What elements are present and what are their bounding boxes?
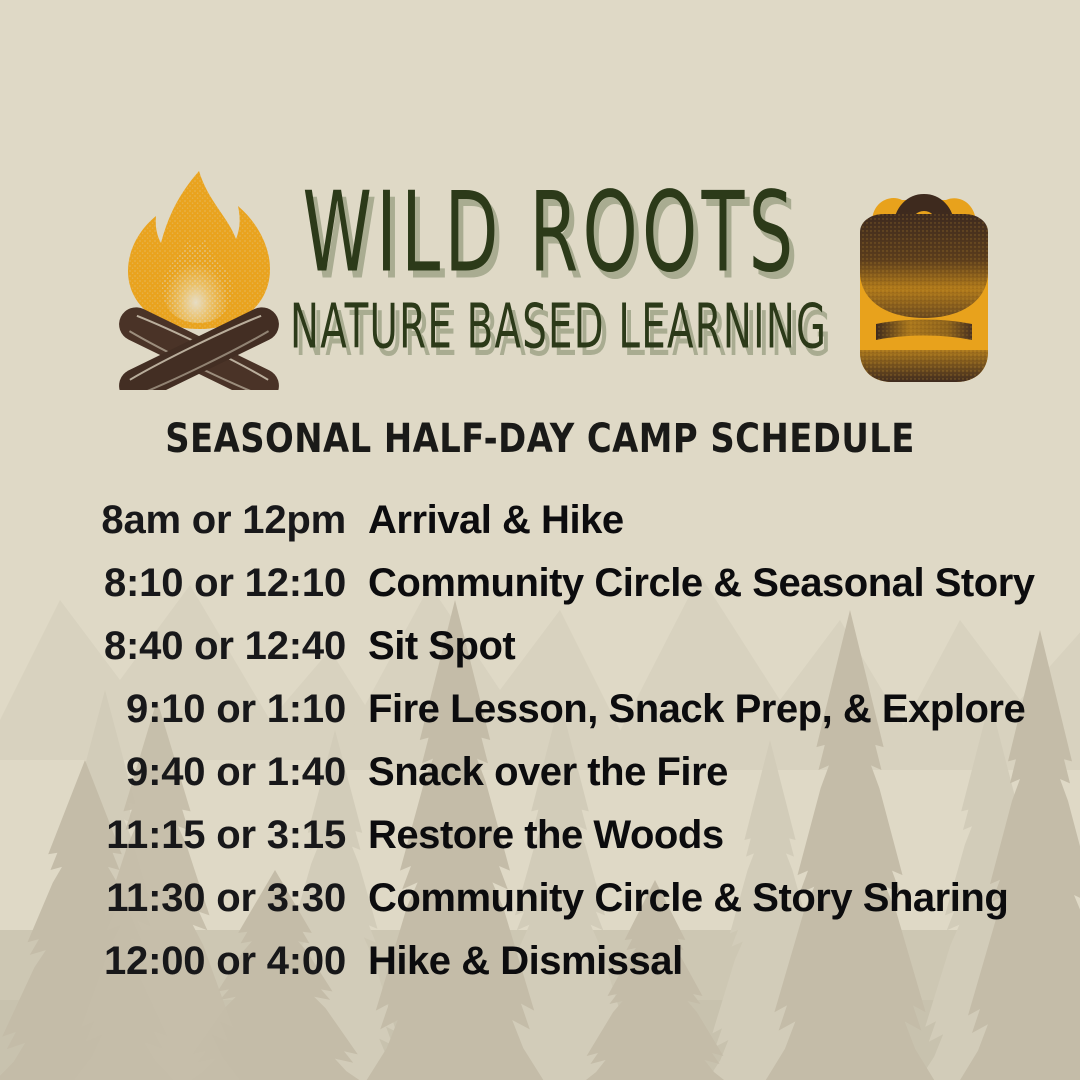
schedule-activity: Community Circle & Seasonal Story: [368, 561, 1040, 606]
schedule-row: 11:15 or 3:15 Restore the Woods: [60, 813, 1040, 876]
schedule-row: 8:10 or 12:10 Community Circle & Seasona…: [60, 561, 1040, 624]
page-title: SEASONAL HALF-DAY CAMP SCHEDULE: [32, 416, 1047, 462]
backpack-icon: [826, 166, 1022, 388]
schedule-activity: Sit Spot: [368, 624, 1040, 669]
schedule-time: 9:10 or 1:10: [60, 687, 368, 732]
schedule-time: 8am or 12pm: [60, 498, 368, 543]
poster-header: WILD ROOTS NATURE BASED LEARNING: [0, 0, 1080, 400]
camp-schedule-poster: WILD ROOTS NATURE BASED LEARNING: [0, 0, 1080, 1080]
schedule-row: 12:00 or 4:00 Hike & Dismissal: [60, 939, 1040, 1002]
schedule-activity: Hike & Dismissal: [368, 939, 1040, 984]
schedule-activity: Fire Lesson, Snack Prep, & Explore: [368, 687, 1040, 732]
logo-primary-text: WILD ROOTS: [290, 178, 810, 289]
schedule-time: 8:40 or 12:40: [60, 624, 368, 669]
schedule-row: 9:40 or 1:40 Snack over the Fire: [60, 750, 1040, 813]
schedule-activity: Snack over the Fire: [368, 750, 1040, 795]
schedule-row: 8:40 or 12:40 Sit Spot: [60, 624, 1040, 687]
ground-band-lower: [0, 1000, 1080, 1080]
schedule-row: 9:10 or 1:10 Fire Lesson, Snack Prep, & …: [60, 687, 1040, 750]
logo-secondary-text: NATURE BASED LEARNING: [290, 298, 810, 359]
flame-shape: [128, 171, 270, 329]
campfire-icon: [104, 165, 294, 390]
schedule-row: 11:30 or 3:30 Community Circle & Story S…: [60, 876, 1040, 939]
brand-logo: WILD ROOTS NATURE BASED LEARNING: [290, 172, 810, 372]
schedule-activity: Restore the Woods: [368, 813, 1040, 858]
schedule-time: 12:00 or 4:00: [60, 939, 368, 984]
schedule-time: 8:10 or 12:10: [60, 561, 368, 606]
schedule-activity: Arrival & Hike: [368, 498, 1040, 543]
schedule-time: 11:15 or 3:15: [60, 813, 368, 858]
schedule-time: 11:30 or 3:30: [60, 876, 368, 921]
schedule-time: 9:40 or 1:40: [60, 750, 368, 795]
schedule-table: 8am or 12pm Arrival & Hike 8:10 or 12:10…: [60, 498, 1040, 1002]
schedule-row: 8am or 12pm Arrival & Hike: [60, 498, 1040, 561]
schedule-activity: Community Circle & Story Sharing: [368, 876, 1040, 921]
